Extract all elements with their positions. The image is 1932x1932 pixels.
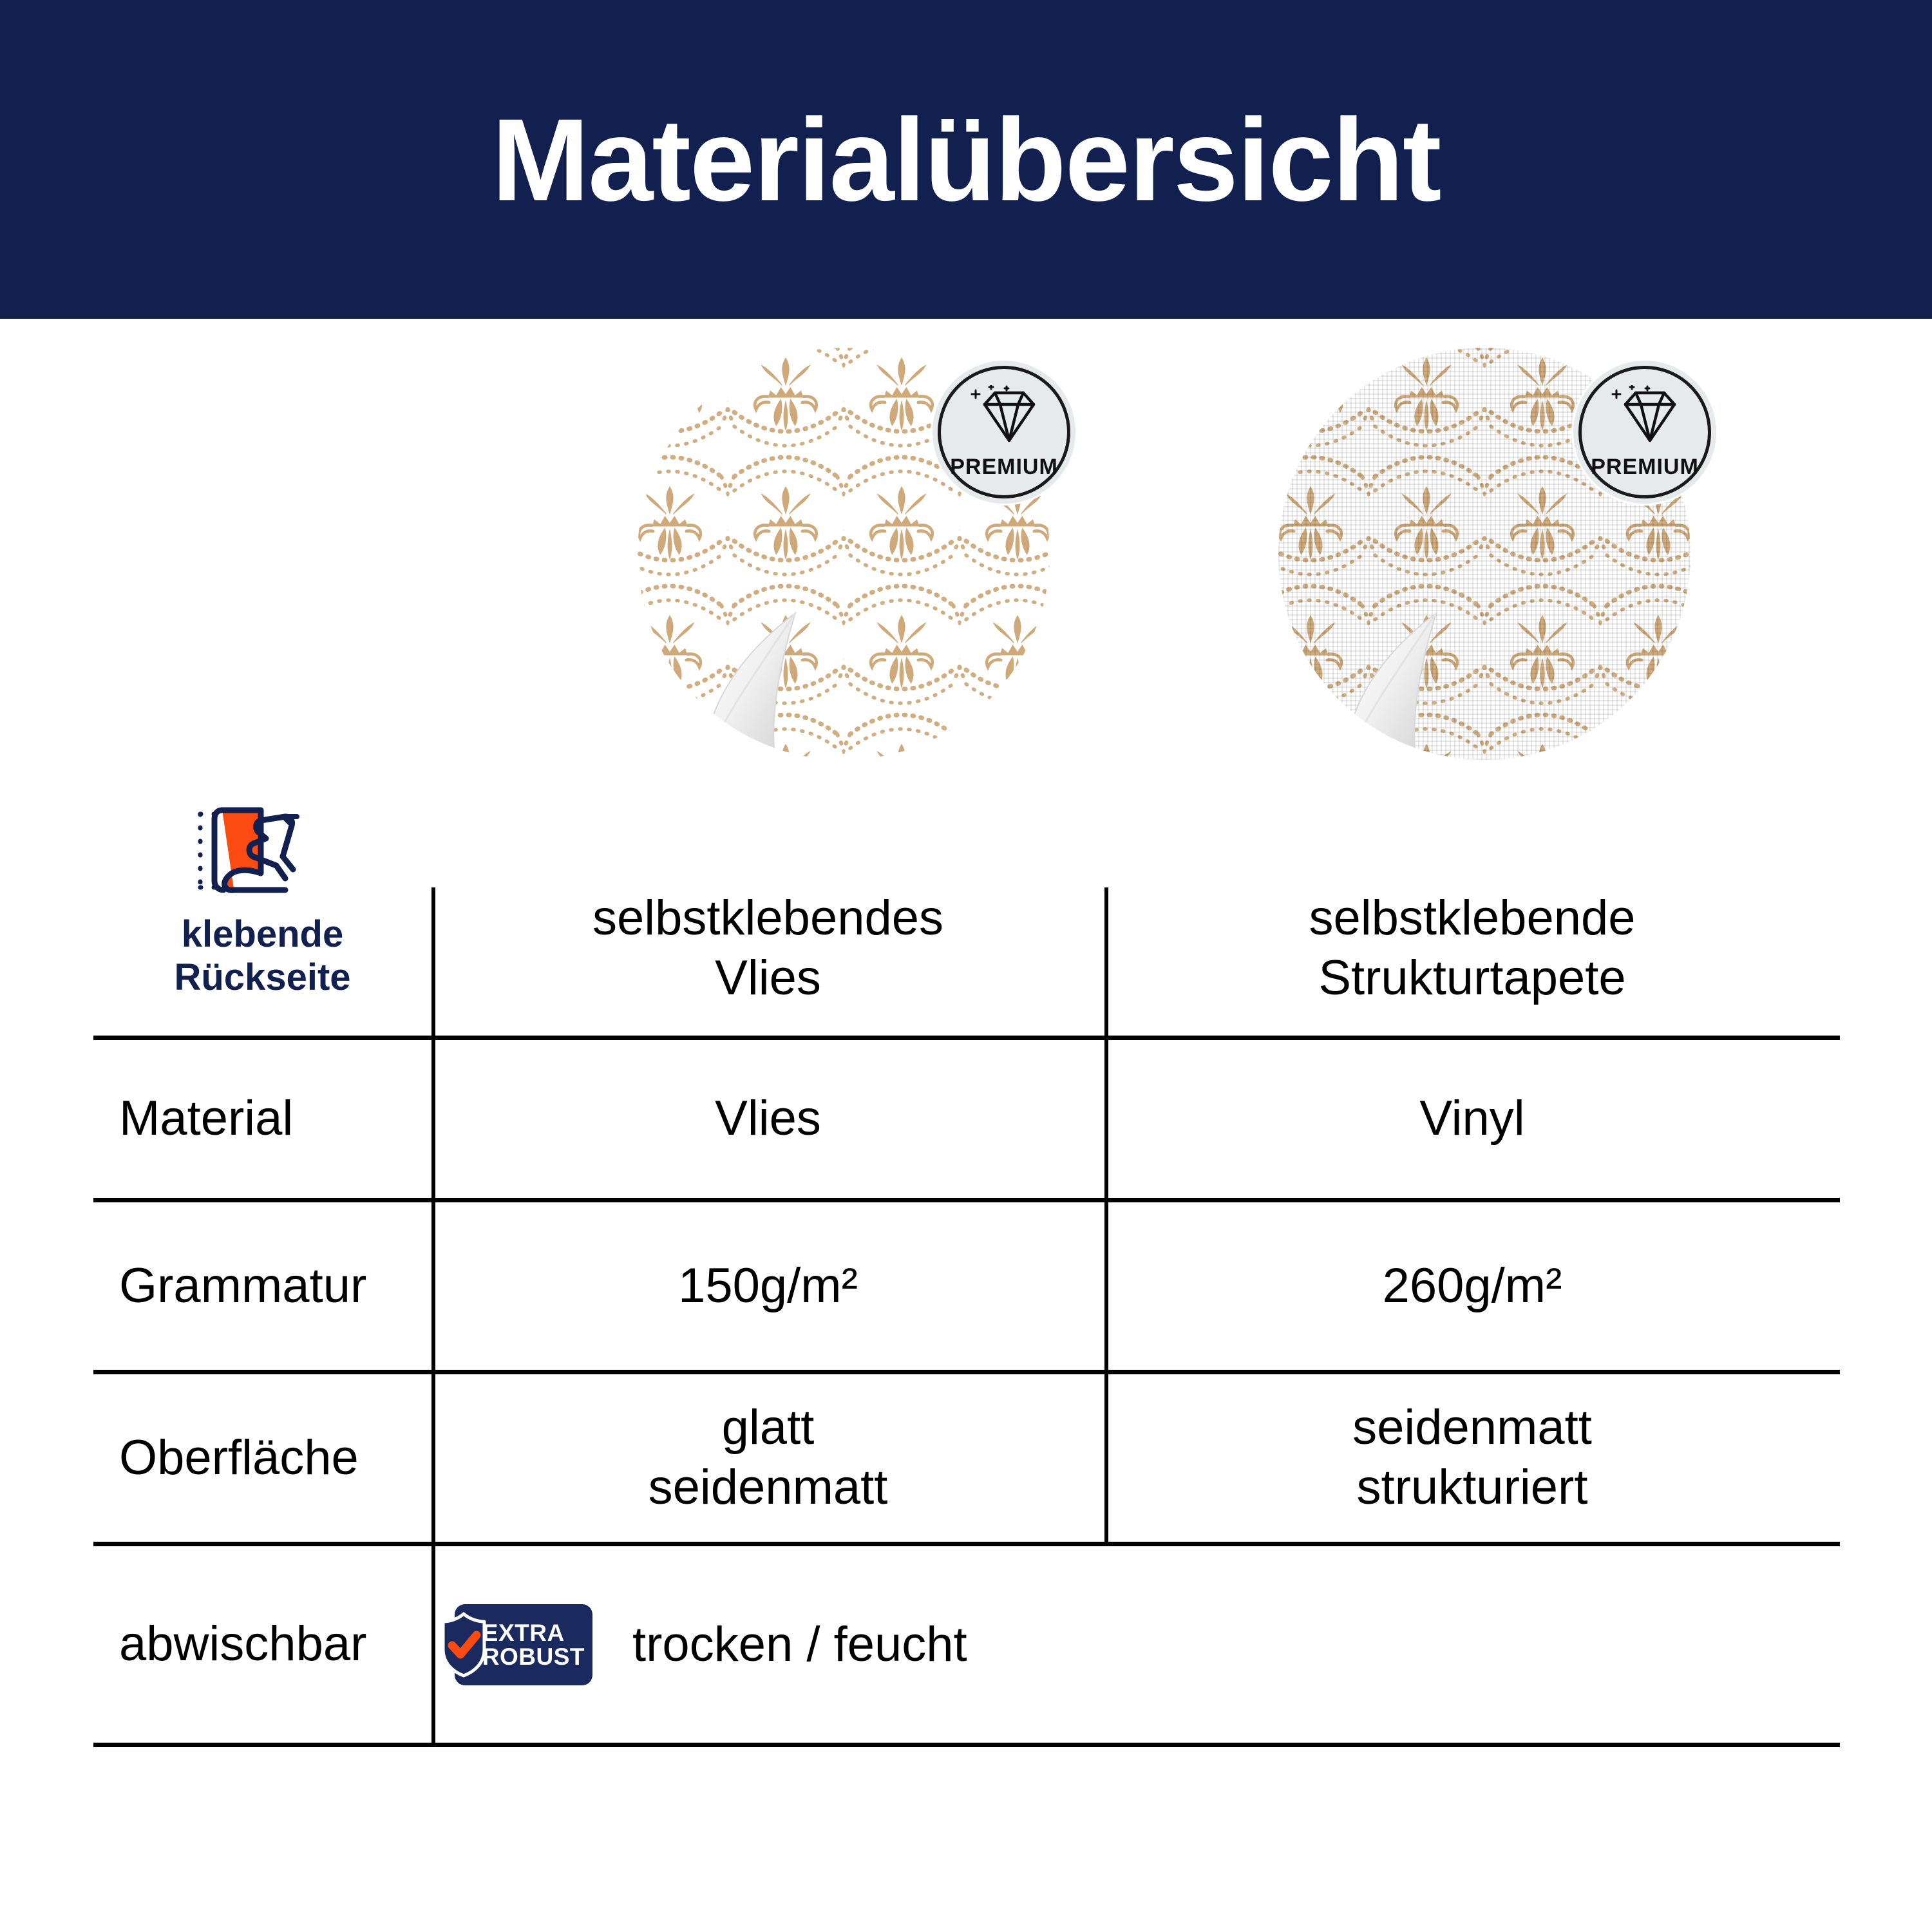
column-header-strukturtapete: selbstklebende Strukturtapete xyxy=(1104,792,1840,1036)
premium-badge: PREMIUM xyxy=(1573,361,1716,504)
cell-oberflaeche-vlies-line2: seidenmatt xyxy=(649,1458,888,1518)
table-row-header: klebende Rückseite selbstklebendes Vlies… xyxy=(93,792,1840,1040)
table-row-oberflaeche: Oberfläche glatt seidenmatt seidenmatt s… xyxy=(93,1374,1840,1546)
premium-badge-inner: PREMIUM xyxy=(1578,366,1711,498)
cell-material-vinyl: Vinyl xyxy=(1104,1040,1840,1198)
sticky-back-label-line2: Rückseite xyxy=(174,956,350,998)
sample-swatch-strukturtapete: PREMIUM xyxy=(1278,348,1690,760)
sticky-back-label-line1: klebende xyxy=(182,913,343,955)
diamond-icon xyxy=(963,385,1045,452)
cell-grammatur-vlies: 150g/m² xyxy=(431,1202,1104,1370)
column-header-strukturtapete-line2: Strukturtapete xyxy=(1309,949,1635,1009)
sticky-back-label: klebende Rückseite xyxy=(174,913,350,999)
cell-oberflaeche-vlies-line1: glatt xyxy=(649,1398,888,1458)
extra-robust-line2: ROBUST xyxy=(482,1645,585,1669)
cell-material-vlies: Vlies xyxy=(431,1040,1104,1198)
row-label-material: Material xyxy=(93,1040,431,1198)
extra-robust-line1: EXTRA xyxy=(482,1621,565,1645)
peeling-sticker-icon xyxy=(189,797,337,904)
column-header-strukturtapete-line1: selbstklebende xyxy=(1309,889,1635,949)
cell-oberflaeche-vinyl-line2: strukturiert xyxy=(1352,1458,1592,1518)
sample-swatch-vlies: PREMIUM xyxy=(638,348,1050,760)
cell-oberflaeche-vinyl: seidenmatt strukturiert xyxy=(1104,1374,1840,1542)
table-row-grammatur: Grammatur 150g/m² 260g/m² xyxy=(93,1202,1840,1374)
sticky-back-cell: klebende Rückseite xyxy=(93,792,431,1036)
cell-grammatur-vinyl: 260g/m² xyxy=(1104,1202,1840,1370)
page-title: Materialübersicht xyxy=(491,101,1440,218)
column-header-vlies-line1: selbstklebendes xyxy=(592,889,943,949)
extra-robust-badge-text: EXTRA ROBUST xyxy=(482,1621,585,1669)
extra-robust-badge: EXTRA ROBUST xyxy=(455,1604,592,1685)
premium-badge-label: PREMIUM xyxy=(950,455,1058,480)
cell-oberflaeche-vinyl-line1: seidenmatt xyxy=(1352,1398,1592,1458)
cell-abwischbar-value: trocken / feucht xyxy=(632,1616,967,1672)
sample-swatches: PREMIUM xyxy=(0,319,1932,795)
shield-check-icon xyxy=(440,1612,487,1678)
premium-badge: PREMIUM xyxy=(933,361,1075,504)
cell-oberflaeche-vlies: glatt seidenmatt xyxy=(431,1374,1104,1542)
diamond-icon xyxy=(1604,385,1686,452)
material-spec-table: klebende Rückseite selbstklebendes Vlies… xyxy=(93,792,1840,1747)
row-label-abwischbar: abwischbar xyxy=(93,1546,431,1743)
column-header-vlies-line2: Vlies xyxy=(592,949,943,1009)
row-label-grammatur: Grammatur xyxy=(93,1202,431,1370)
table-row-material: Material Vlies Vinyl xyxy=(93,1040,1840,1202)
table-row-abwischbar: abwischbar EXTRA ROBUST trocken / feucht xyxy=(93,1546,1840,1747)
page-header: Materialübersicht xyxy=(0,0,1932,319)
column-header-vlies: selbstklebendes Vlies xyxy=(431,792,1104,1036)
row-label-oberflaeche: Oberfläche xyxy=(93,1374,431,1542)
premium-badge-inner: PREMIUM xyxy=(938,366,1070,498)
premium-badge-label: PREMIUM xyxy=(1591,455,1699,480)
